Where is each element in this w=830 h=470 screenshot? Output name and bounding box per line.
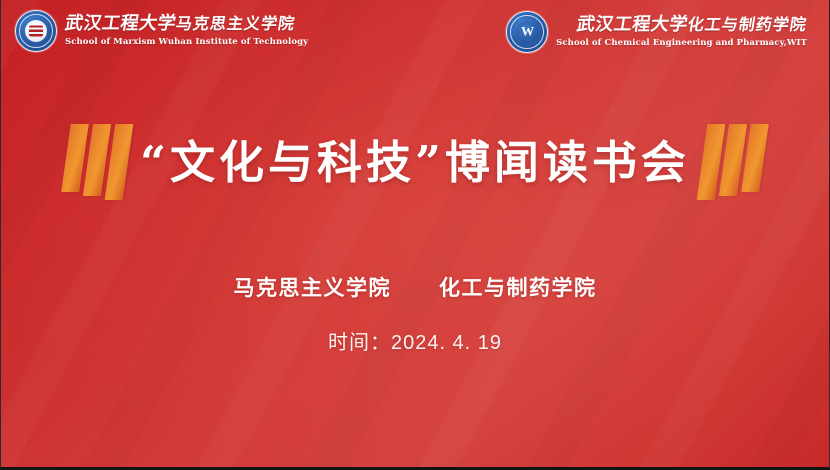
left-logo-unit-cn: 马克思主义学院 <box>175 17 297 33</box>
date-row: 时间：2024. 4. 19 <box>1 326 829 355</box>
presentation-slide: 武汉工程大学马克思主义学院 School of Marxism Wuhan In… <box>0 0 830 470</box>
seal-inner-emblem <box>516 21 538 43</box>
orange-bars-decor-right-icon <box>702 124 764 200</box>
page-title: “文化与科技”博闻读书会 <box>140 140 690 185</box>
right-logo-text: 武汉工程大学化工与制药学院 School of Chemical Enginee… <box>556 16 807 48</box>
left-logo-name-en: School of Marxism Wuhan Institute of Tec… <box>65 38 308 47</box>
left-logo-name-cn: 武汉工程大学马克思主义学院 <box>64 15 310 33</box>
marxism-school-seal-icon <box>15 10 57 52</box>
slide-header: 武汉工程大学马克思主义学院 School of Marxism Wuhan In… <box>1 0 829 62</box>
right-institution-logo: 武汉工程大学化工与制药学院 School of Chemical Enginee… <box>506 11 807 53</box>
wit-university-seal-icon <box>506 11 548 53</box>
diagonal-stripe-texture <box>1 0 829 467</box>
orange-bars-decor-left-icon <box>66 124 128 200</box>
left-logo-text: 武汉工程大学马克思主义学院 School of Marxism Wuhan In… <box>65 15 308 47</box>
right-logo-unit-cn: 化工与制药学院 <box>687 18 809 34</box>
organizer-item: 化工与制药学院 <box>439 272 597 302</box>
organizers-row: 马克思主义学院 化工与制药学院 <box>1 272 829 302</box>
right-logo-name-en: School of Chemical Engineering and Pharm… <box>556 39 807 48</box>
organizer-item: 马克思主义学院 <box>234 272 392 302</box>
title-band: “文化与科技”博闻读书会 <box>1 118 829 206</box>
seal-inner-emblem <box>25 20 47 42</box>
left-institution-logo: 武汉工程大学马克思主义学院 School of Marxism Wuhan In… <box>15 10 308 52</box>
event-date: 时间：2024. 4. 19 <box>328 332 502 354</box>
right-logo-name-cn: 武汉工程大学化工与制药学院 <box>555 16 809 34</box>
center-glow-overlay <box>0 0 830 470</box>
